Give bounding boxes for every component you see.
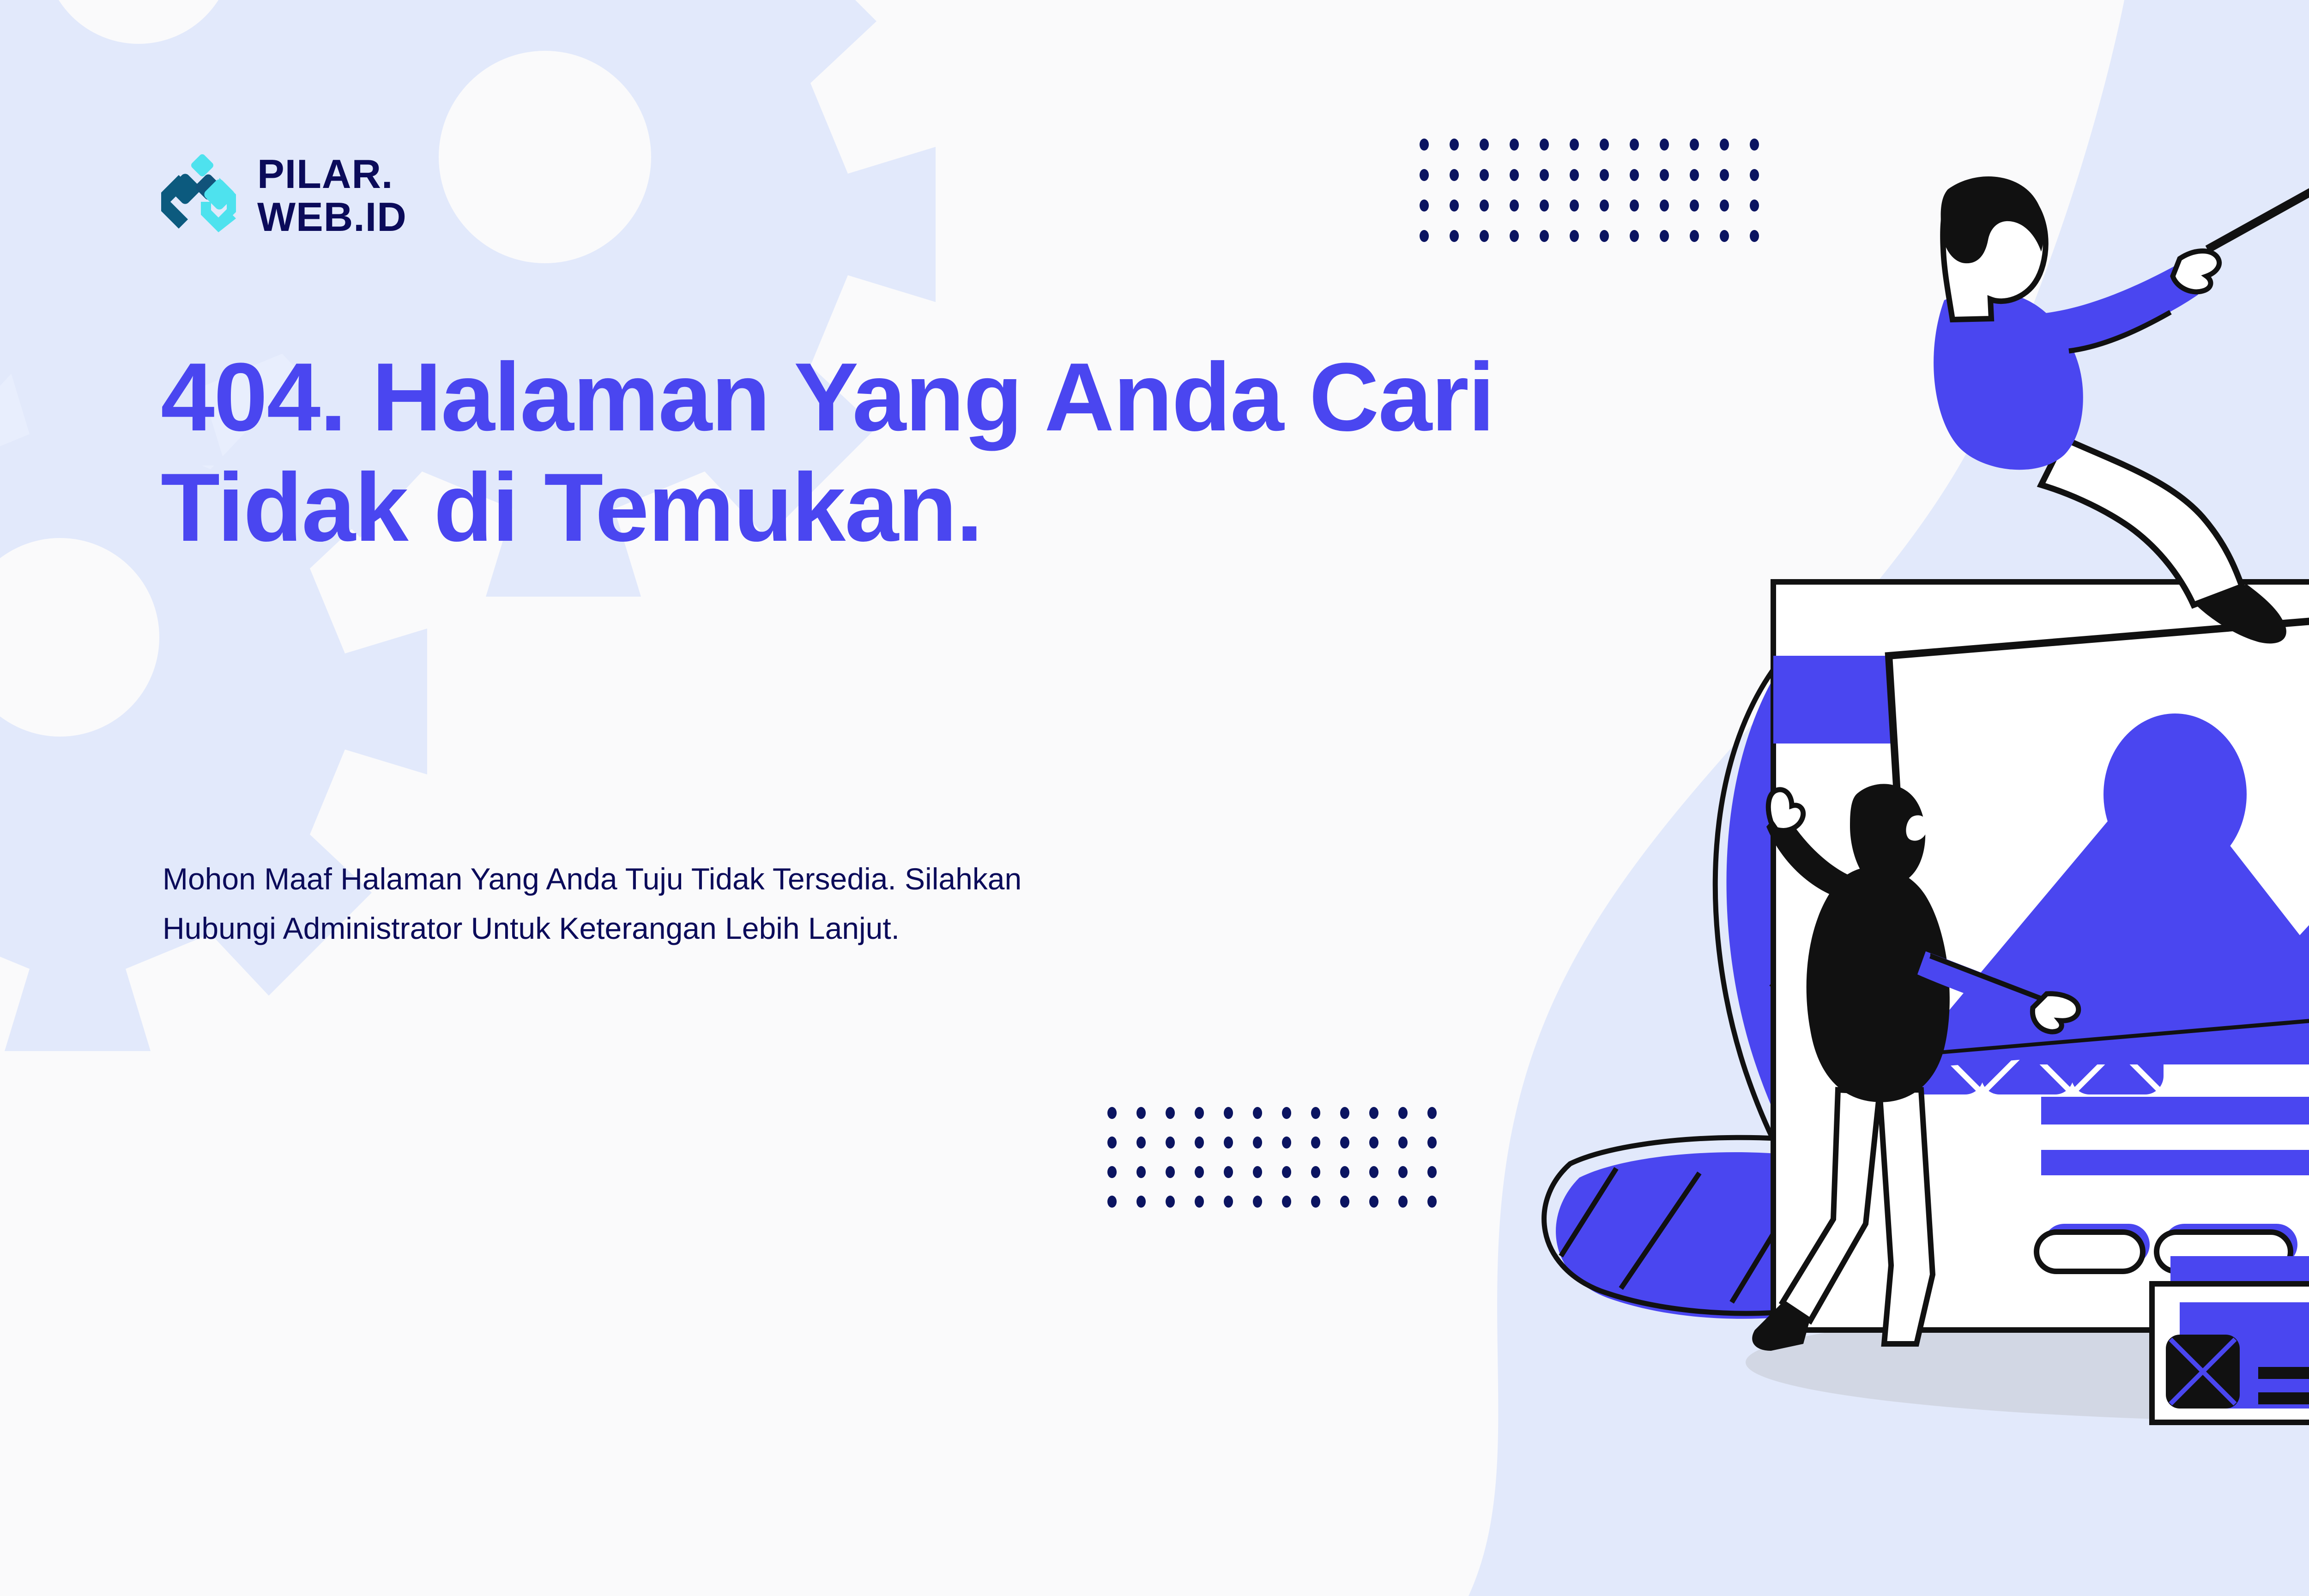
grid-dot	[1340, 1196, 1349, 1208]
grid-dot	[1369, 1137, 1378, 1149]
dot-grid-bottom	[1107, 1107, 1457, 1225]
brand-name-line2: WEB.ID	[257, 194, 407, 240]
grid-dot	[1107, 1166, 1117, 1178]
image-placeholder-x	[2166, 1335, 2240, 1409]
grid-dot	[1311, 1166, 1320, 1178]
grid-dot	[1195, 1107, 1204, 1119]
page-description: Mohon Maaf Halaman Yang Anda Tuju Tidak …	[163, 854, 1409, 953]
grid-dot	[1195, 1196, 1204, 1208]
grid-dot	[1282, 1166, 1291, 1178]
grid-dot	[1398, 1166, 1408, 1178]
grid-dot	[1253, 1107, 1262, 1119]
brand-name: PILAR.WEB.ID	[257, 152, 407, 239]
grid-dot	[1420, 139, 1429, 151]
grid-dot	[1340, 1107, 1349, 1119]
error-page-404: PILAR.WEB.ID 404. Halaman Yang Anda Cari…	[0, 0, 2309, 1596]
grid-dot	[1253, 1196, 1262, 1208]
grid-dot	[1253, 1166, 1262, 1178]
grid-dot	[1427, 1137, 1437, 1149]
grid-dot	[1282, 1107, 1291, 1119]
grid-dot	[1480, 169, 1489, 181]
grid-dot	[1282, 1196, 1291, 1208]
grid-dot	[1224, 1166, 1233, 1178]
picture-card	[1889, 576, 2309, 1068]
grid-dot	[1224, 1107, 1233, 1119]
grid-dot	[1136, 1166, 1146, 1178]
brand-logo[interactable]: PILAR.WEB.ID	[159, 152, 407, 239]
crane-rope	[2207, 111, 2309, 249]
grid-dot	[1398, 1196, 1408, 1208]
grid-dot	[1224, 1137, 1233, 1149]
worker-pulling-rope	[1934, 176, 2286, 643]
page-title: 404. Halaman Yang Anda Cari Tidak di Tem…	[161, 342, 1546, 563]
grid-dot	[1136, 1107, 1146, 1119]
grid-dot	[1420, 230, 1429, 242]
grid-dot	[1369, 1107, 1378, 1119]
grid-dot	[1450, 230, 1459, 242]
grid-dot	[1136, 1137, 1146, 1149]
grid-dot	[1136, 1196, 1146, 1208]
cta-button[interactable]	[2037, 1224, 2150, 1271]
grid-dot	[1340, 1137, 1349, 1149]
grid-dot	[1427, 1196, 1437, 1208]
grid-dot	[1369, 1166, 1378, 1178]
grid-dot	[1480, 230, 1489, 242]
grid-dot	[1195, 1137, 1204, 1149]
grid-dot	[1311, 1196, 1320, 1208]
grid-dot	[1398, 1107, 1408, 1119]
description-line-2: Hubungi Administrator Untuk Keterangan L…	[163, 911, 900, 945]
grid-dot	[1195, 1166, 1204, 1178]
grid-dot	[1311, 1107, 1320, 1119]
grid-dot	[1427, 1166, 1437, 1178]
grid-dot	[1420, 199, 1429, 212]
grid-dot	[1369, 1196, 1378, 1208]
grid-dot	[1340, 1166, 1349, 1178]
grid-dot	[1282, 1137, 1291, 1149]
brand-name-line1: PILAR.	[257, 151, 393, 197]
bottom-device-mockup	[2152, 1256, 2309, 1422]
grid-dot	[1311, 1137, 1320, 1149]
grid-dot	[1450, 169, 1459, 181]
grid-dot	[1253, 1137, 1262, 1149]
grid-dot	[1450, 199, 1459, 212]
grid-dot	[1107, 1137, 1117, 1149]
grid-dot	[1450, 139, 1459, 151]
grid-dot	[1427, 1107, 1437, 1119]
pilar-diamond-logo-icon	[159, 154, 239, 237]
grid-dot	[1480, 199, 1489, 212]
grid-dot	[1398, 1137, 1408, 1149]
grid-dot	[1166, 1166, 1175, 1178]
grid-dot	[1420, 169, 1429, 181]
grid-dot	[1107, 1107, 1117, 1119]
grid-dot	[1224, 1196, 1233, 1208]
grid-dot	[1166, 1137, 1175, 1149]
description-line-1: Mohon Maaf Halaman Yang Anda Tuju Tidak …	[163, 862, 1022, 896]
broken-page-crane-illustration	[1515, 55, 2309, 1524]
grid-dot	[1107, 1196, 1117, 1208]
grid-dot	[1166, 1196, 1175, 1208]
grid-dot	[1166, 1107, 1175, 1119]
grid-dot	[1480, 139, 1489, 151]
